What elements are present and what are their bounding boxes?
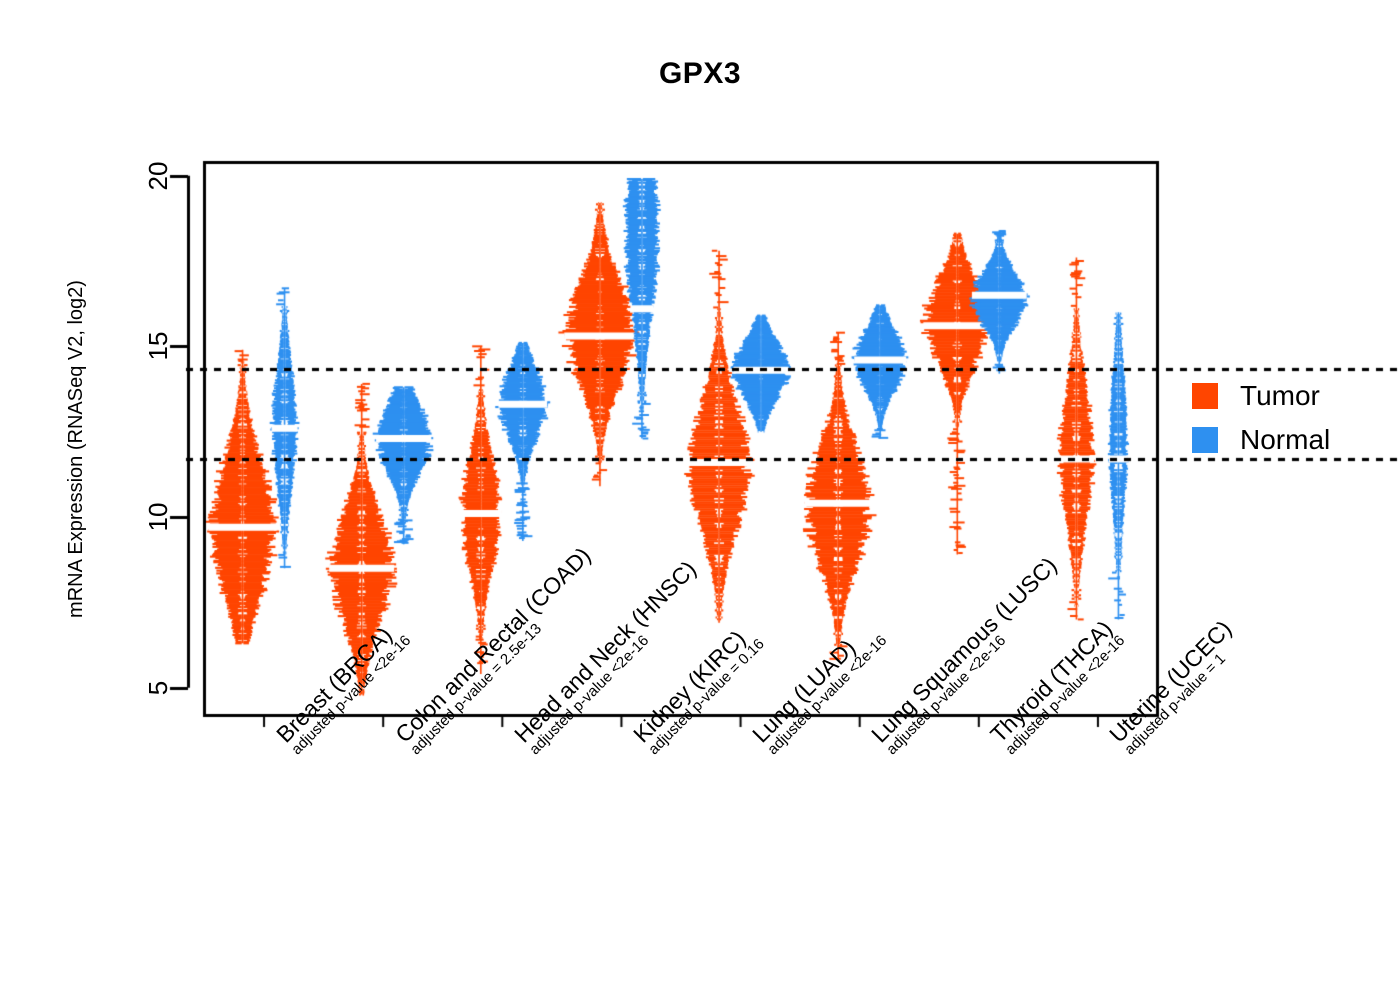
legend-swatch-tumor [1192,383,1218,409]
chart-root: GPX3 mRNA Expression (RNASeq V2, log2) 5… [0,0,1400,1000]
y-tick-label: 10 [143,491,173,543]
legend-item-normal: Normal [1192,418,1392,462]
legend-label-tumor: Tumor [1240,382,1320,410]
legend: Tumor Normal [1192,374,1392,462]
y-tick-label: 20 [143,150,173,202]
y-tick-label: 15 [143,320,173,372]
y-tick-label: 5 [143,662,173,714]
y-axis-title: mRNA Expression (RNASeq V2, log2) [65,219,95,679]
beeswarm-plot-canvas [0,0,1400,1000]
legend-label-normal: Normal [1240,426,1330,454]
legend-swatch-normal [1192,427,1218,453]
legend-item-tumor: Tumor [1192,374,1392,418]
